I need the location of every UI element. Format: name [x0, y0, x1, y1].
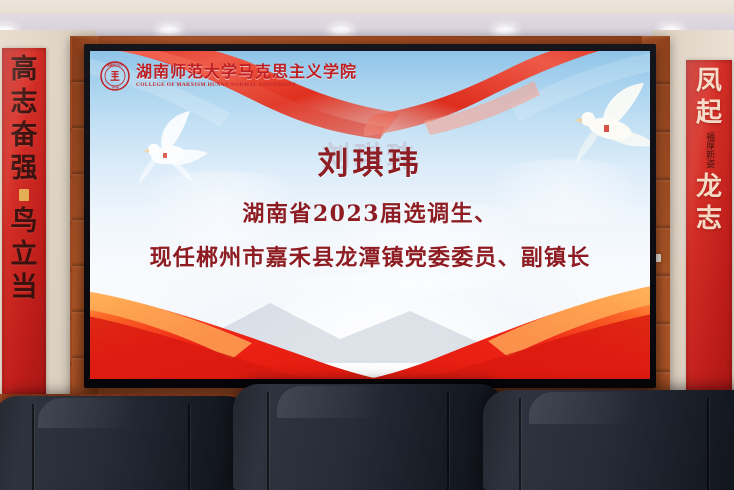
chair-seam [267, 392, 269, 490]
chair-seam [32, 404, 34, 490]
chair-seam [519, 398, 521, 490]
banner-glyph: 高 [11, 56, 38, 83]
ceiling-downlight-icon [158, 26, 180, 35]
meeting-room-photo: 高 志 奋 强 鸟 立 当 凤 起 福厚新姿 龙 志 [0, 0, 734, 490]
mountain-silhouette [90, 273, 650, 363]
banner-glyph: 凤 [696, 68, 722, 94]
brand-name-cn: 湖南师范大学马克思主义学院 [136, 64, 357, 80]
svg-text:1938: 1938 [111, 86, 119, 90]
banner-seal-icon [19, 189, 29, 201]
banner-glyph: 立 [11, 241, 38, 268]
slide-line-1: 湖南省2023届选调生、 [242, 203, 497, 225]
university-seal-icon: 湖南师范大学 1938 [100, 61, 130, 91]
banner-glyph: 鸟 [11, 208, 38, 235]
ceiling-downlight-icon [494, 26, 516, 35]
chair-highlight [38, 398, 178, 428]
chair-back [233, 384, 505, 490]
chair-highlight [529, 392, 685, 424]
ceiling-downlight-icon [330, 26, 352, 35]
banner-glyph: 起 [696, 100, 722, 126]
banner-glyph: 奋 [11, 122, 38, 149]
banner-glyph: 当 [11, 274, 38, 301]
banner-glyph: 龙 [696, 174, 722, 200]
slide-line-2: 现任郴州市嘉禾县龙潭镇党委委员、副镇长 [150, 247, 591, 269]
brand-name-en: COLLEGE OF MARXISM HUNAN NORMAL UNIVERSI… [136, 83, 357, 88]
led-screen-bezel: 湖南师范大学 1938 湖南师范大学马克思主义学院 COLLEGE OF MAR… [84, 44, 656, 388]
banner-glyph: 志 [696, 206, 722, 232]
chair-seam [447, 392, 449, 490]
banner-note: 福厚新姿 [704, 132, 714, 168]
chair-back [483, 390, 734, 490]
led-screen: 湖南师范大学 1938 湖南师范大学马克思主义学院 COLLEGE OF MAR… [90, 51, 650, 379]
chair-highlight [277, 386, 427, 418]
name-ghost-text: 刘琪玮 [318, 135, 423, 175]
wall-banner-right: 凤 起 福厚新姿 龙 志 [686, 60, 732, 410]
svg-text:湖南师范大学: 湖南师范大学 [107, 63, 123, 67]
chair-back [0, 396, 252, 490]
banner-glyph: 志 [11, 89, 38, 116]
university-brand: 湖南师范大学 1938 湖南师范大学马克思主义学院 COLLEGE OF MAR… [100, 61, 357, 91]
chair-seam [707, 398, 709, 490]
chair-seam [188, 404, 190, 490]
banner-glyph: 强 [11, 155, 38, 182]
slide-text-block: 刘琪玮 刘琪玮 湖南省2023届选调生、 现任郴州市嘉禾县龙潭镇党委委员、副镇长 [90, 149, 650, 269]
wall-banner-left: 高 志 奋 强 鸟 立 当 [2, 48, 46, 396]
